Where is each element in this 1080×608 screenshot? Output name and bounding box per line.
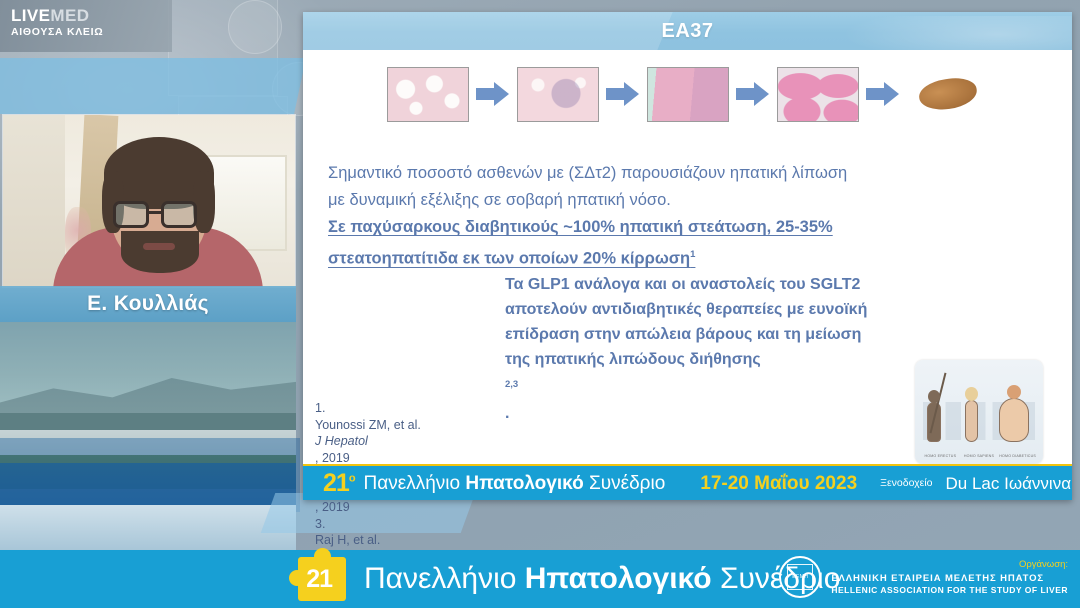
hasl-seal-text: ΕΕΜΗ xyxy=(792,574,808,580)
cartoon-label-2: HOMO DIABETICUS xyxy=(999,454,1037,458)
paragraph2-line4: της ηπατικής λιπώδους διήθησης2,3. xyxy=(505,347,915,426)
conference-puzzle-logo: 21ο xyxy=(298,557,346,601)
cirrhosis-nodules-micrograph xyxy=(777,67,859,122)
slide-footer-edition: 21ο xyxy=(323,471,355,496)
reference-authors: Younossi ZM, et al. xyxy=(315,417,447,434)
arrow-right-icon xyxy=(736,81,770,107)
speaker-beard xyxy=(121,231,199,273)
fibrosis-trichrome-micrograph xyxy=(647,67,729,122)
slide-footer-title-post: Συνέδριο xyxy=(584,473,666,494)
cartoon-label-0: HOMO ERECTUS xyxy=(921,454,959,458)
paragraph1-line4-superscript: 1 xyxy=(690,249,695,260)
livemed-logo-live: LIVE xyxy=(11,6,50,25)
reference-item: 1.Younossi ZM, et al. J Hepatol, 2019 xyxy=(315,400,447,466)
organizer-name-english: HELLENIC ASSOCIATION FOR THE STUDY OF LI… xyxy=(831,585,1068,596)
puzzle-knob-icon xyxy=(228,0,282,54)
cartoon-head xyxy=(928,390,940,403)
arrow-right-icon xyxy=(606,81,640,107)
paragraph2-line4-end: . xyxy=(505,401,915,426)
paragraph2-line4-superscript: 2,3 xyxy=(505,379,518,390)
steatohepatitis-micrograph xyxy=(517,67,599,122)
hasl-seal-logo: ΕΕΜΗ xyxy=(779,556,821,598)
slide-title: ΕΑ37 xyxy=(661,20,713,43)
organizer-names: ΕΛΛΗΝΙΚΗ ΕΤΑΙΡΕΙΑ ΜΕΛΕΤΗΣ ΗΠΑΤΟΣ HELLENI… xyxy=(831,573,1068,596)
cartoon-label-1: HOMO SAPIENS xyxy=(960,454,998,458)
evolution-cartoon: HOMO ERECTUS HOMO SAPIENS HOMO DIABETICU… xyxy=(915,360,1043,464)
video-frame xyxy=(3,115,295,287)
room-label: ΑΙΘΟΥΣΑ ΚΛΕΙΩ xyxy=(11,26,172,38)
gross-cirrhotic-liver-photo xyxy=(907,67,989,122)
slide-title-bar: ΕΑ37 xyxy=(303,12,1072,50)
liver-shape xyxy=(917,75,979,113)
presentation-slide[interactable]: ΕΑ37 Σημαντικό ποσοστό ασθενών με (ΣΔτ2)… xyxy=(303,12,1072,500)
cartoon-figure-erectus xyxy=(927,402,941,442)
slide-footer-date: 17-20 Μαΐου 2023 xyxy=(700,474,857,493)
conference-title-bold: Ηπατολογικό xyxy=(525,562,712,595)
reference-number: 3. xyxy=(315,516,447,533)
slide-footer-title: Πανελλήνιο Ηπατολογικό Συνέδριο xyxy=(364,474,666,493)
speaker-glasses-bridge xyxy=(149,211,161,214)
cartoon-figure-sapiens xyxy=(965,400,978,442)
cartoon-labels: HOMO ERECTUS HOMO SAPIENS HOMO DIABETICU… xyxy=(921,454,1037,458)
reference-authors: Raj H, et al. xyxy=(315,532,447,549)
slide-paragraph-1: Σημαντικό ποσοστό ασθενών με (ΣΔτ2) παρο… xyxy=(328,160,928,273)
conference-edition-degree: ο xyxy=(332,573,338,585)
arrow-right-icon xyxy=(866,81,900,107)
speaker-glasses-left-lens xyxy=(113,201,149,228)
steatosis-micrograph xyxy=(387,67,469,122)
paragraph1-line2: με δυναμική εξέλιξης σε σοβαρή ηπατική ν… xyxy=(328,187,928,214)
page-conference-footer: 21ο Πανελλήνιο Ηπατολογικό Συνέδριο ΕΕΜΗ… xyxy=(0,550,1080,608)
screen: LIVEMED ΑΙΘΟΥΣΑ ΚΛΕΙΩ Ε. Κουλλιάς xyxy=(0,0,1080,608)
paragraph2-line4-text: της ηπατικής λιπώδους διήθησης xyxy=(505,347,915,372)
cartoon-body xyxy=(965,400,978,442)
cartoon-body xyxy=(999,398,1029,442)
paragraph2-line3: επίδραση στην απώλεια βάρους και τη μείω… xyxy=(505,322,915,347)
slide-paragraph-2: Τα GLP1 ανάλογα και οι αναστολείς του SG… xyxy=(505,272,915,426)
paragraph1-line1: Σημαντικό ποσοστό ασθενών με (ΣΔτ2) παρο… xyxy=(328,160,928,187)
reference-number: 1. xyxy=(315,400,447,417)
conference-title: Πανελλήνιο Ηπατολογικό Συνέδριο xyxy=(364,564,840,594)
histology-progression xyxy=(303,60,1072,128)
organizer-label: Οργάνωση: xyxy=(831,559,1068,570)
paragraph1-line3: Σε παχύσαρκους διαβητικούς ~100% ηπατική… xyxy=(328,214,928,241)
conference-title-pre: Πανελλήνιο xyxy=(364,562,525,595)
livemed-logo: LIVEMED xyxy=(11,7,172,25)
arrow-right-icon xyxy=(476,81,510,107)
cartoon-head xyxy=(1007,385,1021,399)
slide-footer-hotel-prefix: Ξενοδοχείο xyxy=(880,477,932,489)
speaker-name-bar: Ε. Κουλλιάς xyxy=(0,286,296,322)
speaker-mouth xyxy=(143,243,175,250)
speaker-video-tile[interactable] xyxy=(3,115,295,287)
cartoon-figure-diabeticus xyxy=(999,398,1029,442)
cartoon-head xyxy=(965,387,978,401)
paragraph1-line4: στεατοηπατίτιδα εκ των οποίων 20% κίρρωσ… xyxy=(328,241,928,273)
reference-journal: J Hepatol xyxy=(315,434,368,448)
livemed-logo-plate: LIVEMED ΑΙΘΟΥΣΑ ΚΛΕΙΩ xyxy=(0,0,172,52)
reference-year: , 2019 xyxy=(315,499,447,516)
slide-footer-title-pre: Πανελλήνιο xyxy=(364,473,466,494)
organizer-text-block: Οργάνωση: ΕΛΛΗΝΙΚΗ ΕΤΑΙΡΕΙΑ ΜΕΛΕΤΗΣ ΗΠΑΤ… xyxy=(831,559,1068,596)
bottom-left-photo-strip xyxy=(0,505,296,550)
livemed-logo-med: MED xyxy=(50,6,89,25)
decorative-blue-panel xyxy=(0,58,306,114)
slide-conference-footer: 21ο Πανελλήνιο Ηπατολογικό Συνέδριο 17-2… xyxy=(303,464,1072,500)
paragraph2-line2: αποτελούν αντιδιαβητικές θεραπείες με ευ… xyxy=(505,297,915,322)
slide-footer-hotel: Du Lac Ιωάννινα xyxy=(946,475,1072,492)
organizer-name-greek: ΕΛΛΗΝΙΚΗ ΕΤΑΙΡΕΙΑ ΜΕΛΕΤΗΣ ΗΠΑΤΟΣ xyxy=(831,573,1068,585)
speaker-glasses-right-lens xyxy=(161,201,197,228)
video-bg-wall xyxy=(3,115,65,287)
slide-footer-edition-number: 21 xyxy=(323,469,349,497)
organizer-block: ΕΕΜΗ Οργάνωση: ΕΛΛΗΝΙΚΗ ΕΤΑΙΡΕΙΑ ΜΕΛΕΤΗΣ… xyxy=(779,556,1068,598)
conference-edition: 21ο xyxy=(298,557,346,601)
conference-edition-number: 21 xyxy=(306,565,332,594)
landscape-blue-overlay xyxy=(0,438,300,512)
paragraph2-line1: Τα GLP1 ανάλογα και οι αναστολείς του SG… xyxy=(505,272,915,297)
slide-footer-title-bold: Ηπατολογικό xyxy=(465,473,583,494)
slide-footer-degree: ο xyxy=(349,472,355,484)
paragraph1-line4-text: στεατοηπατίτιδα εκ των οποίων 20% κίρρωσ… xyxy=(328,250,690,268)
speaker-name: Ε. Κουλλιάς xyxy=(87,292,209,316)
